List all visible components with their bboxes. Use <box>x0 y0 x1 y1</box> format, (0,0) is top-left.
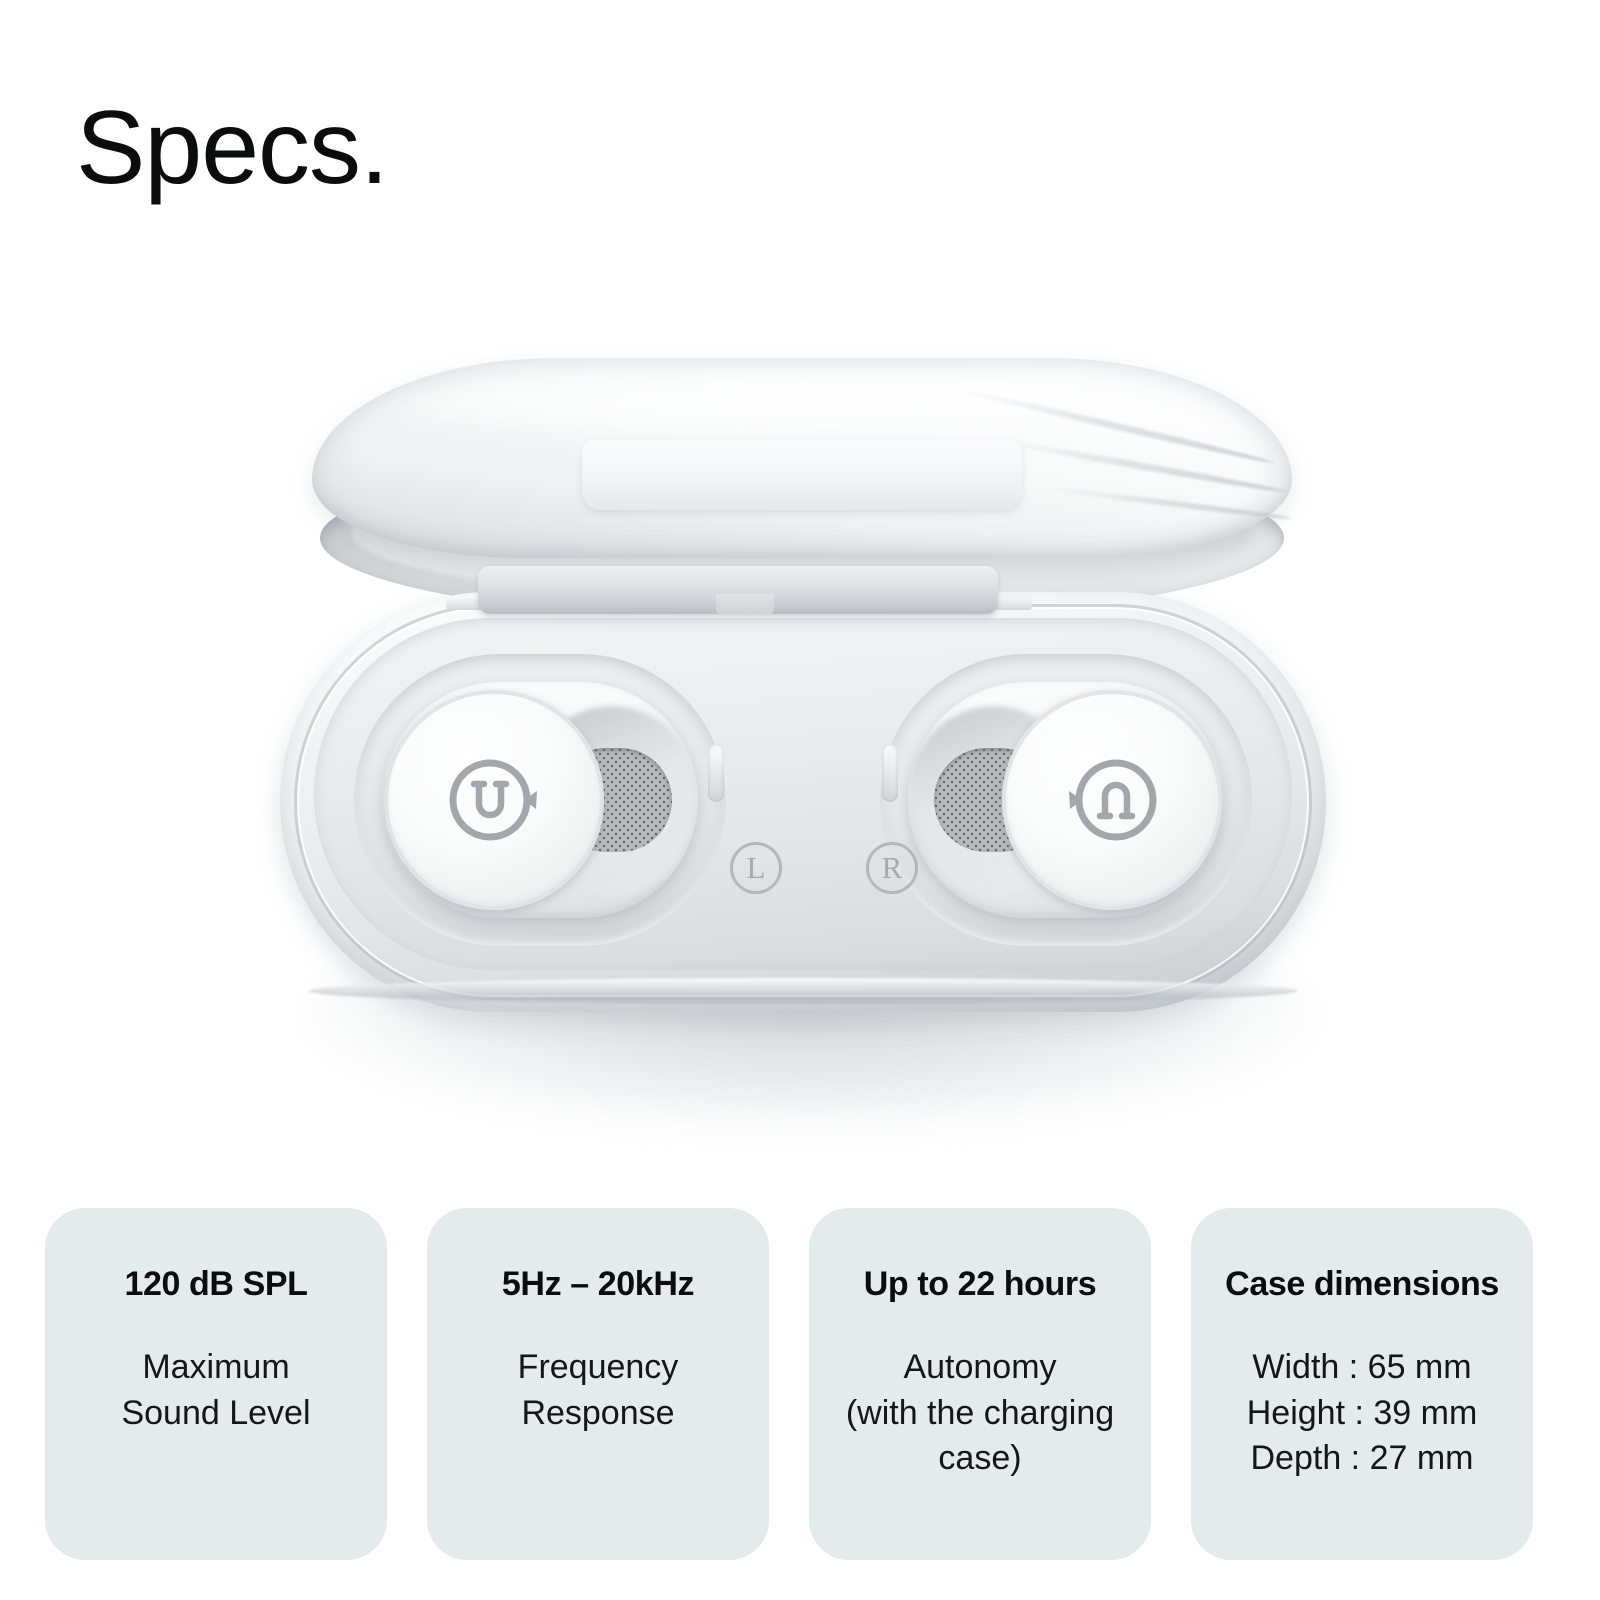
case-hinge <box>478 566 998 614</box>
spec-heading: 5Hz – 20kHz <box>437 1266 759 1303</box>
brand-logo-left-icon <box>442 748 546 852</box>
spec-heading: Case dimensions <box>1201 1266 1523 1303</box>
case-vent-right <box>882 744 898 802</box>
hinge-pin-right <box>992 598 1032 610</box>
earbud-slot-left <box>354 654 726 946</box>
spec-card-autonomy: Up to 22 hours Autonomy (with the chargi… <box>809 1208 1151 1560</box>
right-channel-marking: R <box>866 842 918 894</box>
hinge-notch <box>716 594 774 614</box>
spec-card-max-sound-level: 120 dB SPL Maximum Sound Level <box>45 1208 387 1560</box>
spec-body: Width : 65 mm Height : 39 mm Depth : 27 … <box>1201 1345 1523 1481</box>
page-title: Specs. <box>76 96 388 200</box>
spec-body: Frequency Response <box>437 1345 759 1435</box>
earbud-left <box>382 682 698 918</box>
spec-body: Maximum Sound Level <box>55 1345 377 1435</box>
spec-body: Autonomy (with the charging case) <box>819 1345 1141 1481</box>
earbud-right <box>908 682 1224 918</box>
lid-ridge <box>1043 485 1292 521</box>
lid-ridge <box>990 436 1287 495</box>
earbud-right-touch-surface <box>1002 690 1222 910</box>
earbud-slot-right <box>880 654 1252 946</box>
earbud-left-touch-surface <box>384 690 604 910</box>
spec-heading: Up to 22 hours <box>819 1266 1141 1303</box>
spec-heading: 120 dB SPL <box>55 1266 377 1303</box>
left-channel-marking: L <box>730 842 782 894</box>
brand-logo-right-icon <box>1060 748 1164 852</box>
spec-card-frequency-response: 5Hz – 20kHz Frequency Response <box>427 1208 769 1560</box>
case-base: L R <box>280 592 1326 1012</box>
spec-card-case-dimensions: Case dimensions Width : 65 mm Height : 3… <box>1191 1208 1533 1560</box>
case-vent-left <box>708 744 724 802</box>
product-image: L R <box>250 340 1360 1140</box>
spec-cards: 120 dB SPL Maximum Sound Level 5Hz – 20k… <box>45 1208 1555 1560</box>
lid-front-tab <box>582 440 1022 510</box>
case-base-bottom-edge <box>308 978 1298 1004</box>
specs-page: Specs. <box>0 0 1600 1600</box>
